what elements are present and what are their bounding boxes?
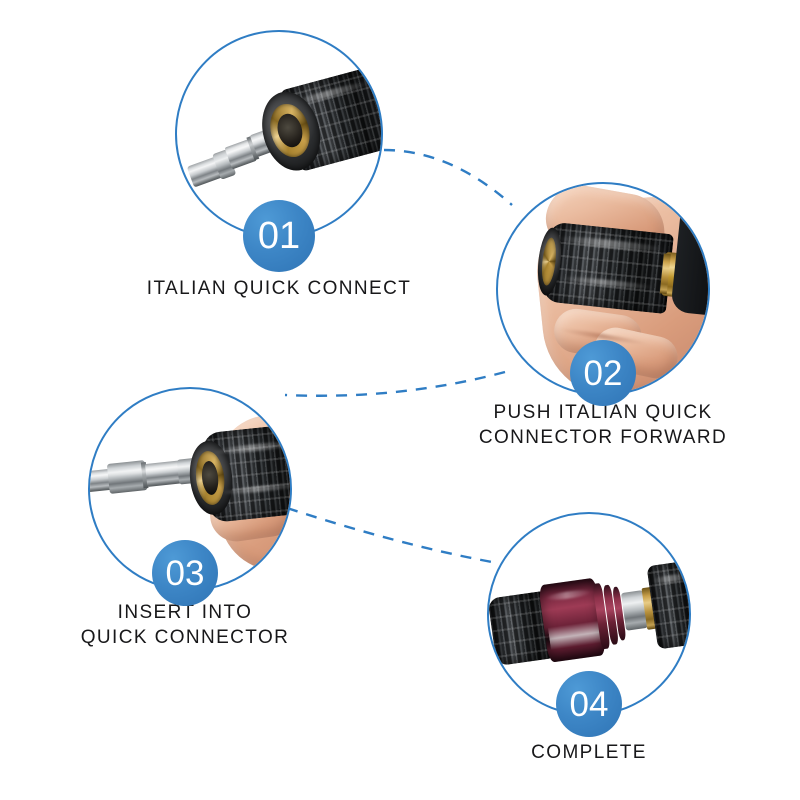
step-02-number: 02: [584, 356, 623, 391]
quick-connector-body-03: [178, 422, 290, 527]
connector-line-02-03: [285, 372, 505, 396]
step-04-number: 04: [570, 687, 609, 722]
connector-line-03-04: [287, 508, 492, 562]
step-01-caption: ITALIAN QUICK CONNECT: [89, 276, 469, 301]
step-02-badge: 02: [570, 340, 636, 406]
step-03-badge: 03: [152, 540, 218, 606]
step-02-caption: PUSH ITALIAN QUICK CONNECTOR FORWARD: [423, 400, 783, 450]
step-04-badge: 04: [556, 671, 622, 737]
step-01-number: 01: [258, 217, 300, 255]
step-03-number: 03: [166, 556, 205, 591]
step-04-caption: COMPLETE: [409, 740, 769, 765]
step-03-caption: INSERT INTO QUICK CONNECTOR: [5, 600, 365, 650]
assembly-04: [489, 556, 689, 678]
instruction-diagram: 01 ITALIAN QUICK CONNECT: [0, 0, 800, 800]
quick-connector-body-01: [253, 63, 381, 188]
step-01-badge: 01: [243, 200, 315, 272]
connector-line-01-02: [384, 150, 512, 205]
